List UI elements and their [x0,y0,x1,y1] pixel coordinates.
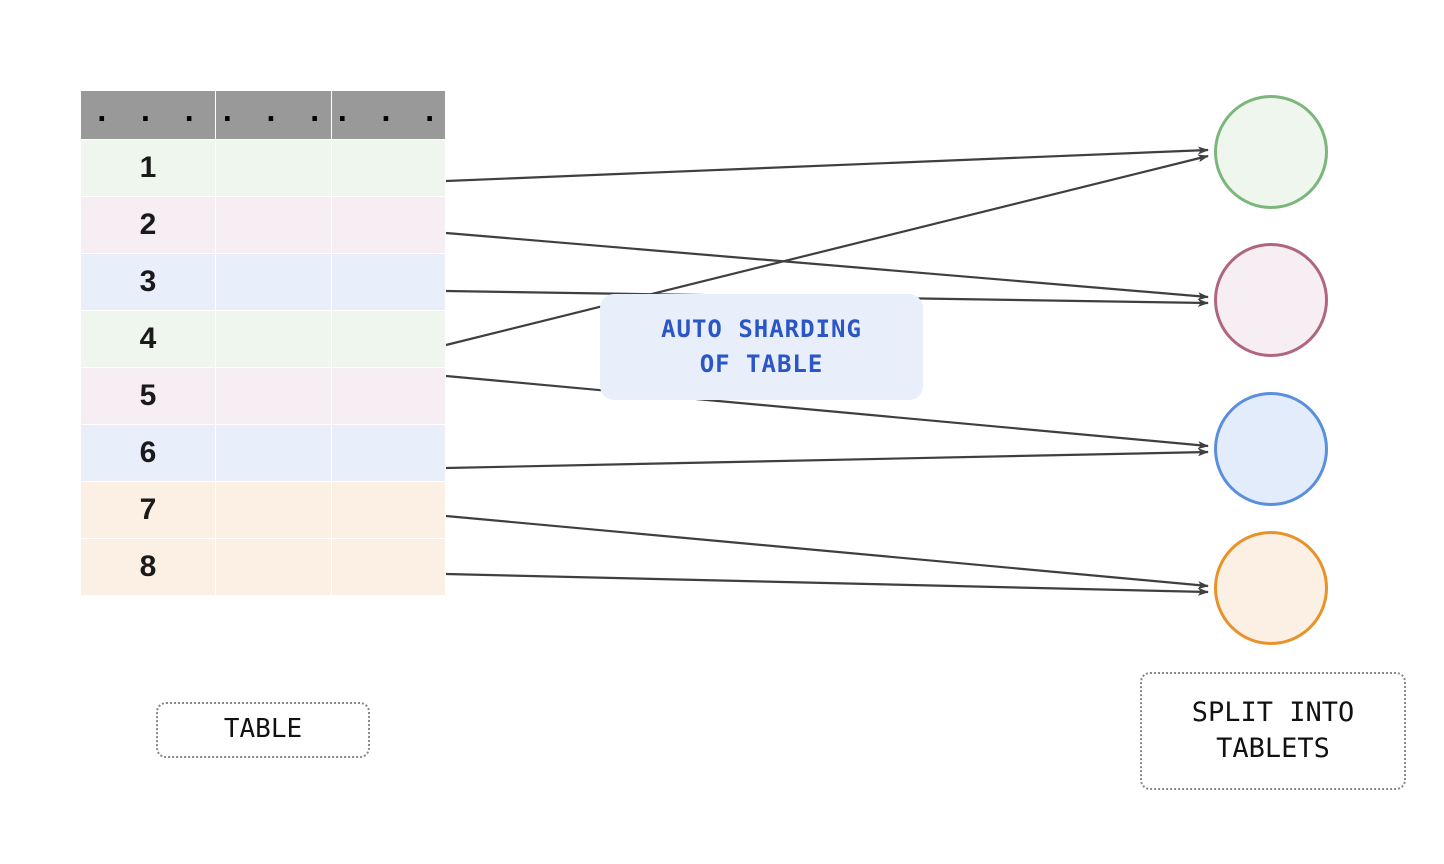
shard-edge [446,233,1208,297]
auto-sharding-callout-label: AUTO SHARDING OF TABLE [661,312,862,382]
edge-layer [0,0,1444,864]
auto-sharding-callout: AUTO SHARDING OF TABLE [600,294,923,400]
diagram-canvas: · · · · · · · · · 12345678 AUTO SHARDING… [0,0,1444,864]
shard-edge [446,150,1208,181]
shard-edge [446,452,1208,468]
shard-edge [446,516,1208,586]
shard-edge [446,574,1208,592]
